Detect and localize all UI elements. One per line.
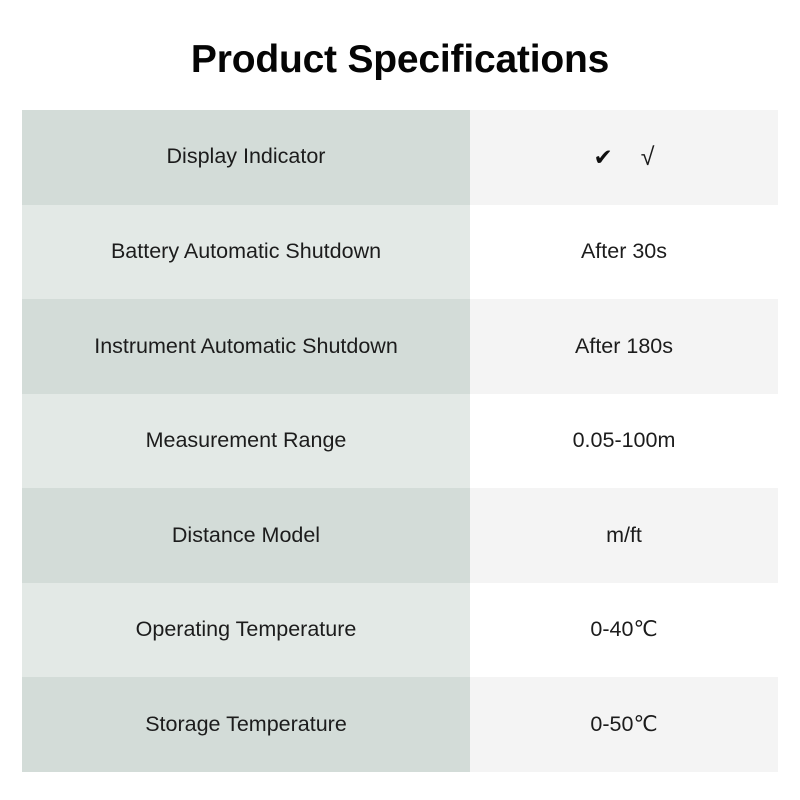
spec-label: Storage Temperature <box>22 677 470 772</box>
table-row: Operating Temperature0-40℃ <box>22 583 778 678</box>
spec-value: After 30s <box>470 205 778 300</box>
spec-value: ✔√ <box>470 110 778 205</box>
table-row: Measurement Range0.05-100m <box>22 394 778 489</box>
table-row: Battery Automatic ShutdownAfter 30s <box>22 205 778 300</box>
checkmark-group: ✔√ <box>593 145 654 170</box>
spec-value: 0.05-100m <box>470 394 778 489</box>
table-row: Storage Temperature0-50℃ <box>22 677 778 772</box>
spec-label: Battery Automatic Shutdown <box>22 205 470 300</box>
spec-value: 0-50℃ <box>470 677 778 772</box>
table-row: Display Indicator✔√ <box>22 110 778 205</box>
table-row: Distance Modelm/ft <box>22 488 778 583</box>
specifications-table: Display Indicator✔√Battery Automatic Shu… <box>22 110 778 772</box>
spec-label: Display Indicator <box>22 110 470 205</box>
spec-label: Operating Temperature <box>22 583 470 678</box>
table-row: Instrument Automatic ShutdownAfter 180s <box>22 299 778 394</box>
spec-value: After 180s <box>470 299 778 394</box>
spec-label: Measurement Range <box>22 394 470 489</box>
spec-label: Distance Model <box>22 488 470 583</box>
check-thin-icon: √ <box>641 145 655 170</box>
spec-label: Instrument Automatic Shutdown <box>22 299 470 394</box>
check-heavy-icon: ✔ <box>593 146 612 169</box>
spec-value: 0-40℃ <box>470 583 778 678</box>
product-specifications-page: Product Specifications Display Indicator… <box>0 0 800 800</box>
spec-value: m/ft <box>470 488 778 583</box>
page-title: Product Specifications <box>0 36 800 84</box>
